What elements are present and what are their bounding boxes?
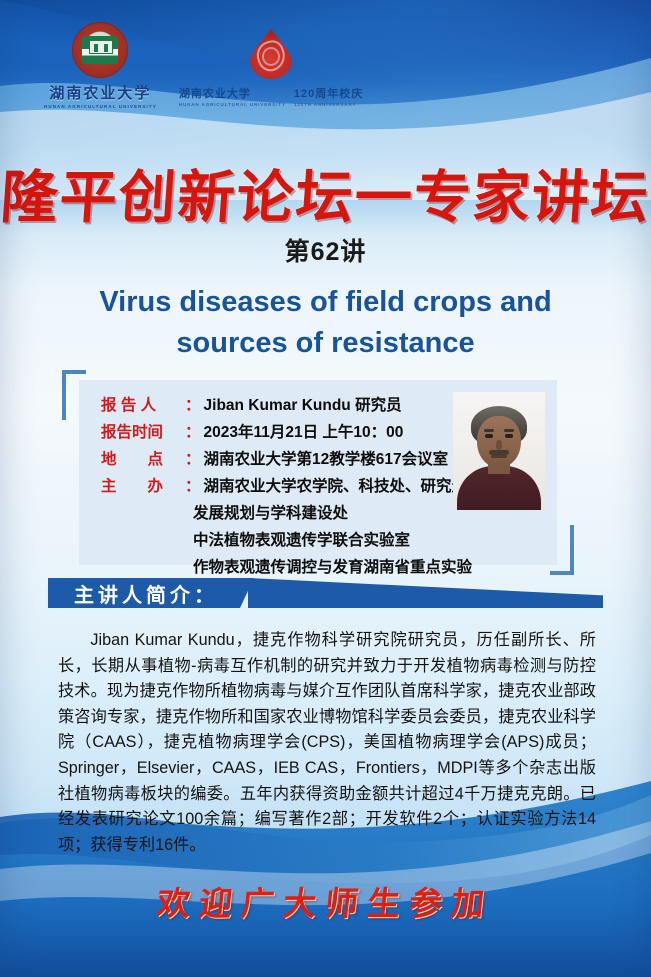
info-value-speaker: Jiban Kumar Kundu 研究员 [204, 393, 402, 415]
welcome-banner: 欢迎广大师生参加 [0, 877, 651, 925]
talk-info-card: 报 告 人 ： Jiban Kumar Kundu 研究员 报告时间 ： 202… [79, 380, 557, 565]
anniversary-university-en: HUNAN AGRICULTURAL UNIVERSITY [179, 102, 286, 107]
university-name-zh: 湖南农业大学 [49, 82, 151, 103]
info-row-organizer: 主 办 ： 湖南农业大学农学院、科技处、研究生院 [101, 474, 483, 496]
university-logo: 湖南农业大学 HUNAN AGRICULTURAL UNIVERSITY [44, 22, 157, 109]
info-value-organizer: 湖南农业大学农学院、科技处、研究生院 [204, 474, 483, 496]
speaker-bio: Jiban Kumar Kundu，捷克作物科学研究院研究员，历任副所长、所长，… [58, 628, 596, 858]
session-number: 第62讲 [0, 232, 651, 268]
english-title-line2: sources of resistance [60, 323, 591, 364]
section-header-label: 主讲人简介： [74, 579, 218, 608]
talk-info-rows: 报 告 人 ： Jiban Kumar Kundu 研究员 报告时间 ： 202… [101, 393, 483, 582]
info-colon: ： [185, 447, 201, 469]
info-label-speaker: 报 告 人 [101, 393, 185, 415]
info-colon: ： [185, 420, 201, 442]
anniversary-logo: 湖南农业大学 HUNAN AGRICULTURAL UNIVERSITY 120… [179, 27, 363, 109]
talk-info-block: 报 告 人 ： Jiban Kumar Kundu 研究员 报告时间 ： 202… [62, 370, 574, 575]
anniversary-badge-en: 120TH ANNIVERSARY [294, 102, 363, 107]
organizer-line-2: 发展规划与学科建设处 [193, 501, 483, 523]
info-colon: ： [185, 474, 201, 496]
section-header-tab: 主讲人简介： [48, 578, 254, 608]
anniversary-mark [249, 27, 293, 83]
speaker-photo [453, 392, 545, 510]
info-row-speaker: 报 告 人 ： Jiban Kumar Kundu 研究员 [101, 393, 483, 415]
info-value-time: 2023年11月21日 上午10：00 [204, 420, 404, 442]
organizer-line-4: 作物表观遗传调控与发育湖南省重点实验 [193, 555, 483, 577]
page-title: 隆平创新论坛一专家讲坛 [0, 152, 651, 234]
info-label-venue: 地 点 [101, 447, 185, 469]
anniversary-university-zh: 湖南农业大学 [179, 85, 286, 101]
info-value-venue: 湖南农业大学第12教学楼617会议室 [204, 447, 449, 469]
seminar-poster: 湖南农业大学 HUNAN AGRICULTURAL UNIVERSITY 湖南农… [0, 0, 651, 977]
info-label-time: 报告时间 [101, 420, 185, 442]
bio-section-header: 主讲人简介： [48, 578, 603, 612]
info-row-venue: 地 点 ： 湖南农业大学第12教学楼617会议室 [101, 447, 483, 469]
english-title: Virus diseases of field crops and source… [60, 282, 591, 364]
organizer-line-3: 中法植物表观遗传学联合实验室 [193, 528, 483, 550]
section-header-tail [248, 578, 603, 608]
flame-drop-icon [249, 27, 293, 83]
info-row-time: 报告时间 ： 2023年11月21日 上午10：00 [101, 420, 483, 442]
english-title-line1: Virus diseases of field crops and [60, 282, 591, 323]
logo-row: 湖南农业大学 HUNAN AGRICULTURAL UNIVERSITY 湖南农… [44, 22, 363, 109]
university-seal-icon [72, 22, 128, 78]
info-colon: ： [185, 393, 201, 415]
info-label-organizer: 主 办 [101, 474, 185, 496]
anniversary-badge-zh: 120周年校庆 [294, 85, 363, 101]
university-name-en: HUNAN AGRICULTURAL UNIVERSITY [44, 104, 157, 109]
